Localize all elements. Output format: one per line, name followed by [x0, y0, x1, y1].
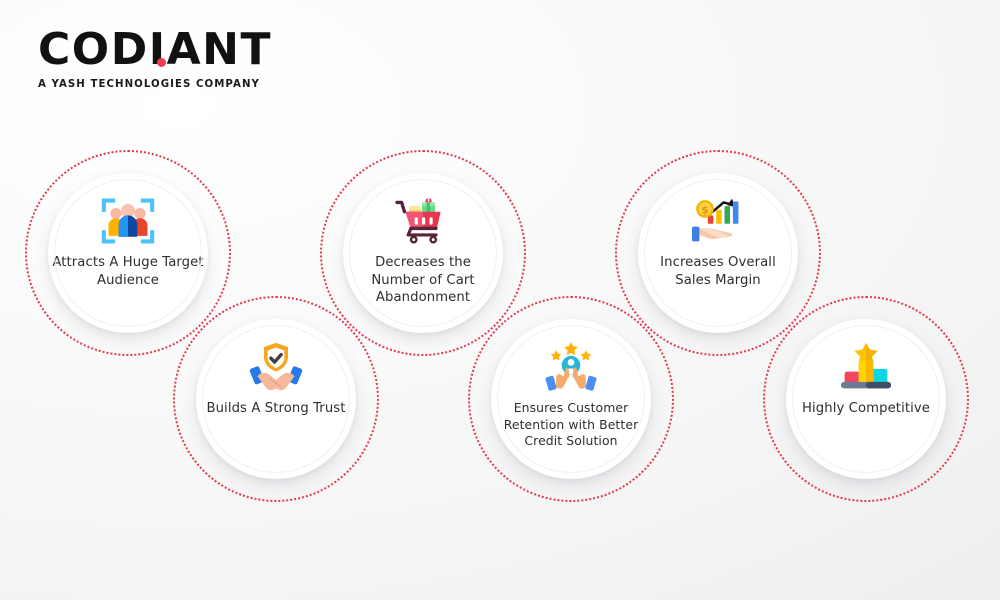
shopping-cart-icon — [393, 195, 453, 247]
svg-text:$: $ — [701, 206, 708, 217]
brand-logo: CODIANT A YASH TECHNOLOGIES COMPANY — [38, 28, 272, 90]
brand-name: CODIANT — [38, 28, 272, 72]
benefit-label: Attracts A Huge Target Audience — [52, 254, 204, 289]
thumbs-up-customer-icon — [541, 341, 601, 393]
benefit-label: Builds A Strong Trust — [200, 400, 352, 418]
hand-growth-chart-icon: $ — [688, 195, 748, 247]
benefit-card-highly-competitive[interactable]: Highly Competitive — [763, 296, 969, 502]
benefit-disc: Highly Competitive — [786, 319, 946, 479]
brand-tagline: A YASH TECHNOLOGIES COMPANY — [38, 79, 272, 90]
benefit-label: Highly Competitive — [790, 400, 942, 418]
benefit-label: Ensures Customer Retention with Better C… — [493, 400, 649, 450]
benefit-label: Increases Overall Sales Margin — [642, 254, 794, 289]
target-audience-icon — [98, 195, 158, 247]
brand-accent-dot — [157, 58, 166, 67]
podium-star-icon — [836, 341, 896, 393]
handshake-shield-icon — [246, 341, 306, 393]
infographic-canvas: CODIANT A YASH TECHNOLOGIES COMPANY — [0, 0, 1000, 600]
